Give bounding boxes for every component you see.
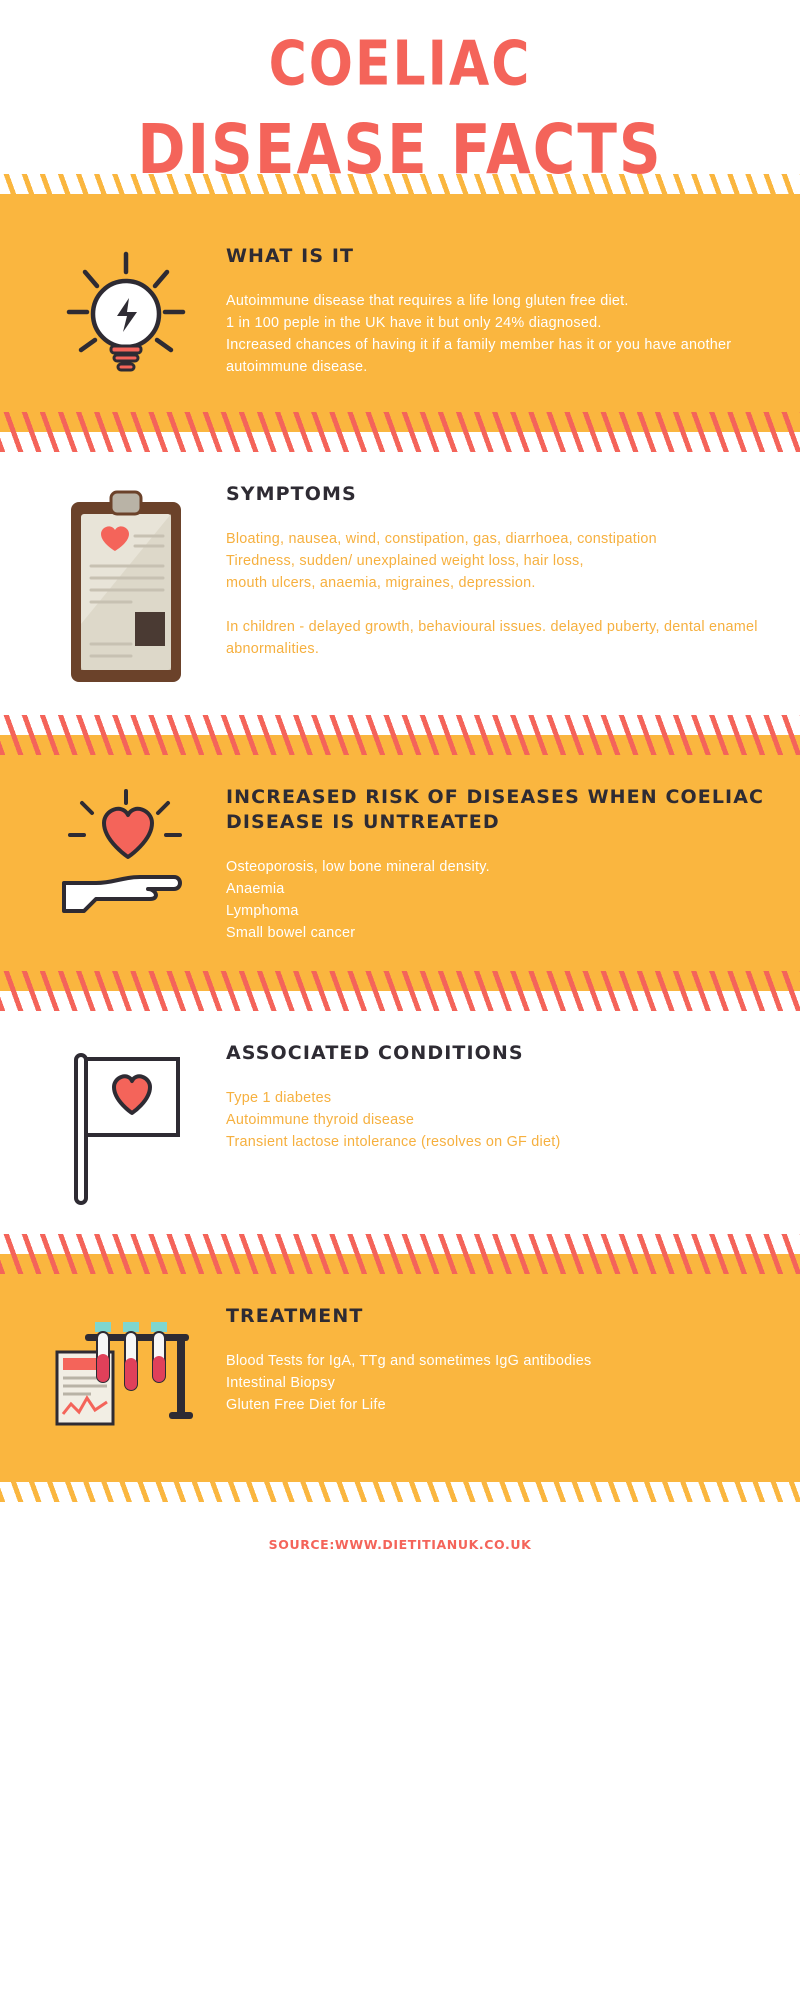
text-column: TREATMENT Blood Tests for IgA, TTg and s… — [226, 1300, 770, 1417]
divider-stripes-top — [0, 174, 800, 214]
icon-column — [26, 240, 226, 386]
section-body: Autoimmune disease that requires a life … — [226, 291, 770, 379]
section-associated-conditions: ASSOCIATED CONDITIONS Type 1 diabetes Au… — [0, 1011, 800, 1234]
divider-stripes-bottom — [0, 1462, 800, 1502]
section-what-is-it: WHAT IS IT Autoimmune disease that requi… — [0, 214, 800, 412]
section-symptoms: SYMPTOMS Bloating, nausea, wind, constip… — [0, 452, 800, 715]
clipboard-heart-icon — [61, 484, 191, 689]
section-treatment: TREATMENT Blood Tests for IgA, TTg and s… — [0, 1274, 800, 1462]
divider-stripes-2 — [0, 715, 800, 755]
section-heading: SYMPTOMS — [226, 482, 770, 507]
section-body: Osteoporosis, low bone mineral density. … — [226, 857, 770, 945]
text-column: INCREASED RISK OF DISEASES WHEN COELIAC … — [226, 781, 770, 945]
divider-stripes-1 — [0, 412, 800, 452]
text-column: SYMPTOMS Bloating, nausea, wind, constip… — [226, 478, 770, 660]
text-column: ASSOCIATED CONDITIONS Type 1 diabetes Au… — [226, 1037, 770, 1154]
section-body: Bloating, nausea, wind, constipation, ga… — [226, 529, 770, 660]
icon-column — [26, 478, 226, 689]
icon-column — [26, 1300, 226, 1436]
section-body: Type 1 diabetes Autoimmune thyroid disea… — [226, 1088, 770, 1154]
section-heading: ASSOCIATED CONDITIONS — [226, 1041, 770, 1066]
footer: SOURCE:WWW.DIETITIANUK.CO.UK — [0, 1502, 800, 1554]
lightbulb-icon — [61, 246, 191, 386]
icon-column — [26, 1037, 226, 1208]
hand-heart-icon — [56, 787, 196, 922]
section-heading: WHAT IS IT — [226, 244, 770, 269]
infographic-page: COELIAC DISEASE FACTS — [0, 0, 800, 2000]
section-body: Blood Tests for IgA, TTg and sometimes I… — [226, 1351, 770, 1417]
divider-stripes-4 — [0, 1234, 800, 1274]
test-tubes-icon — [51, 1306, 201, 1436]
section-heading: TREATMENT — [226, 1304, 770, 1329]
icon-column — [26, 781, 226, 922]
flag-heart-icon — [56, 1043, 196, 1208]
text-column: WHAT IS IT Autoimmune disease that requi… — [226, 240, 770, 379]
section-heading: INCREASED RISK OF DISEASES WHEN COELIAC … — [226, 785, 770, 835]
page-title-line-1: COELIAC — [0, 34, 800, 97]
divider-stripes-3 — [0, 971, 800, 1011]
source-link[interactable]: SOURCE:WWW.DIETITIANUK.CO.UK — [269, 1537, 532, 1552]
title-block: COELIAC DISEASE FACTS — [0, 0, 800, 174]
section-increased-risk: INCREASED RISK OF DISEASES WHEN COELIAC … — [0, 755, 800, 971]
